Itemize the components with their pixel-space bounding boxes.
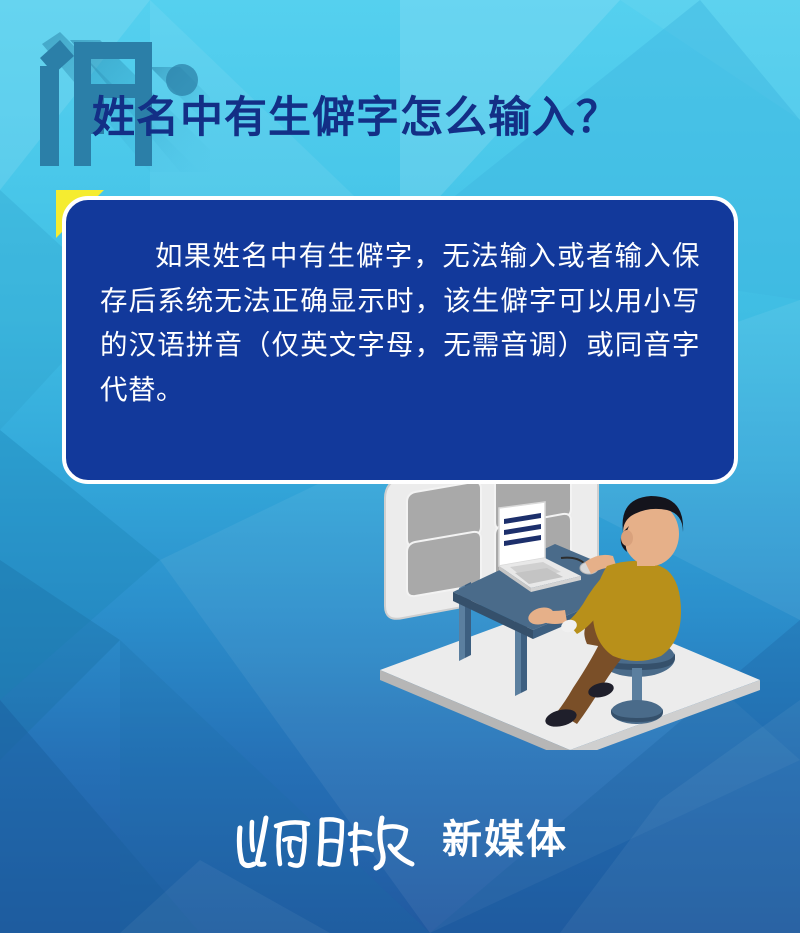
workspace-illustration	[355, 440, 785, 750]
brand-logo: 新媒体	[0, 801, 800, 881]
content-card-body: 如果姓名中有生僻字，无法输入或者输入保存后系统无法正确显示时，该生僻字可以用小写…	[62, 196, 738, 484]
page-title: 姓名中有生僻字怎么输入？	[92, 97, 620, 140]
shanxi-daily-script-logo-icon	[232, 806, 432, 876]
poster-root: 姓名中有生僻字怎么输入？ 如果姓名中有生僻字，无法输入或者输入保存后系统无法正确…	[0, 0, 800, 933]
content-card-text: 如果姓名中有生僻字，无法输入或者输入保存后系统无法正确显示时，该生僻字可以用小写…	[100, 234, 700, 412]
brand-sub-label: 新媒体	[442, 820, 568, 860]
content-card: 如果姓名中有生僻字，无法输入或者输入保存后系统无法正确显示时，该生僻字可以用小写…	[62, 196, 738, 484]
